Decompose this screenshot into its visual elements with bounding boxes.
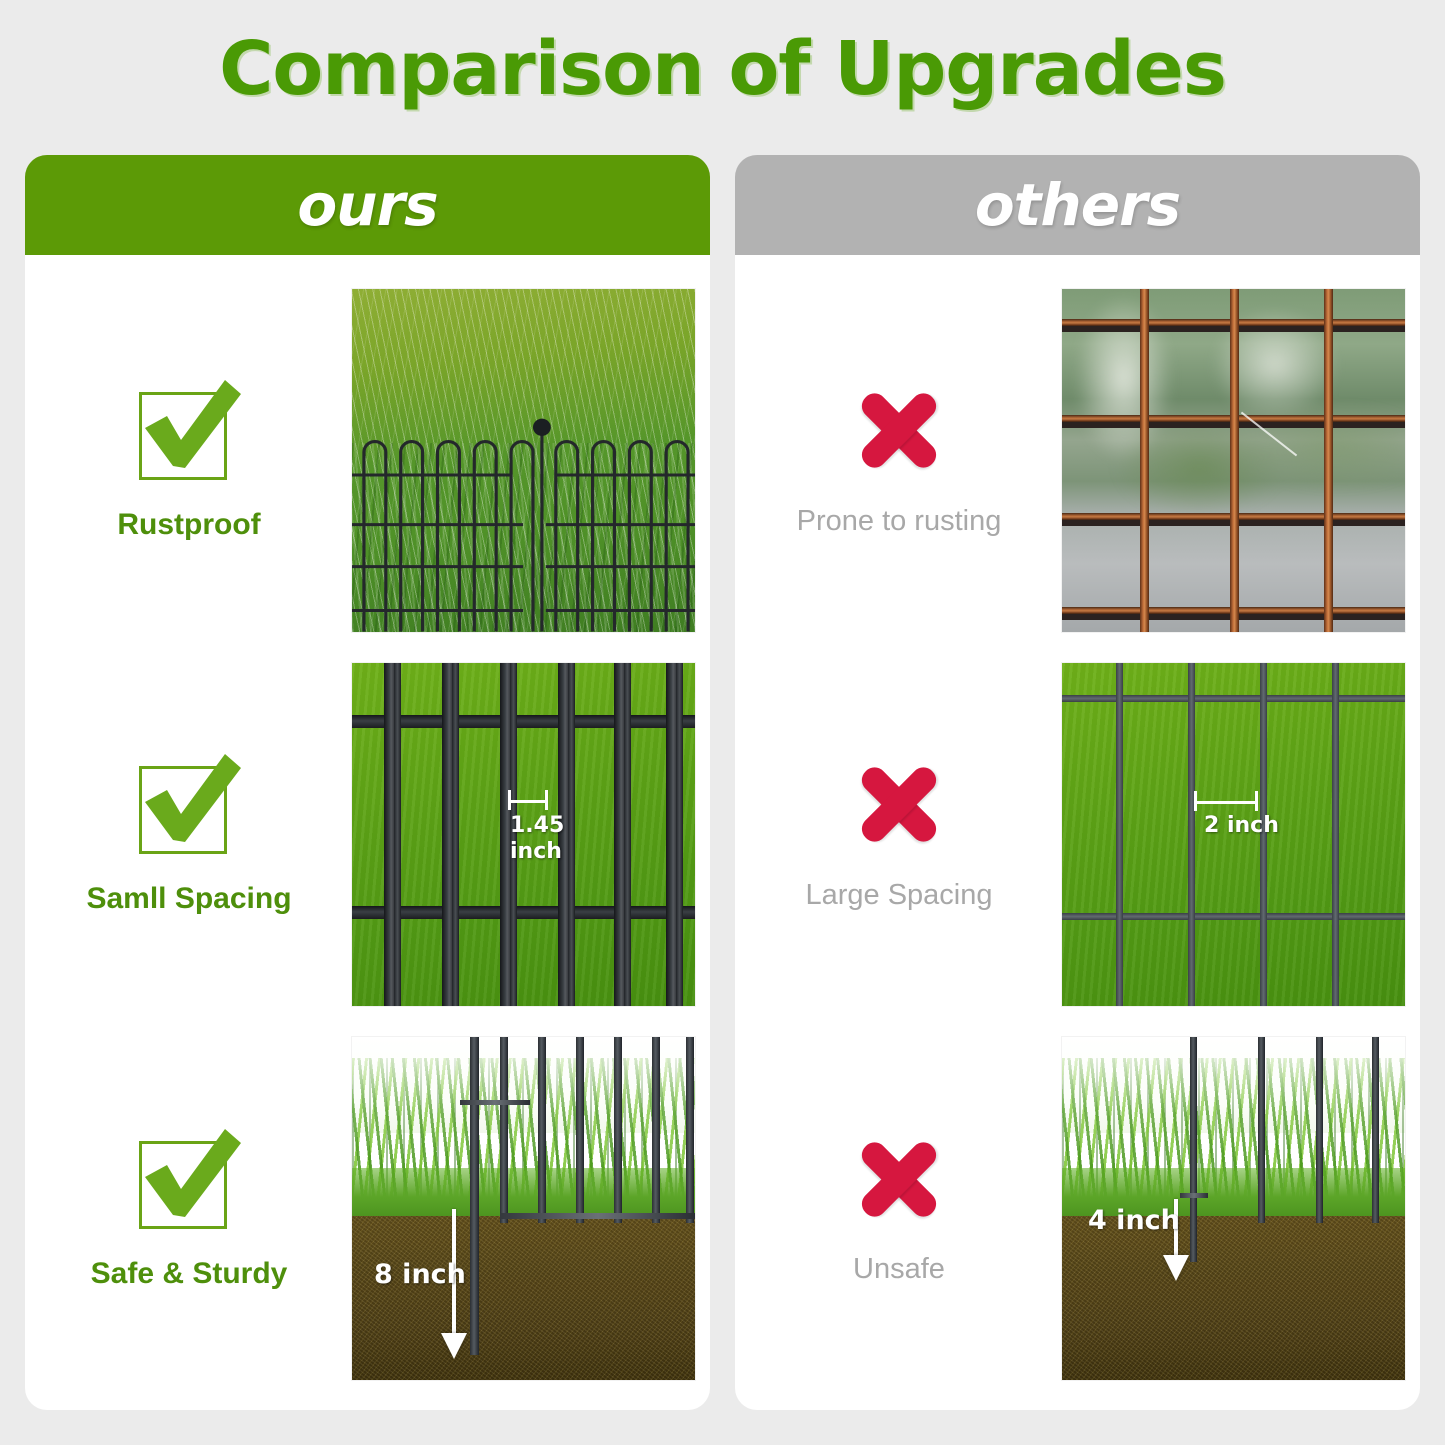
fence-bar — [676, 662, 683, 1007]
fence-crossbar — [1061, 695, 1406, 702]
check-icon — [133, 378, 245, 482]
feature-rustproof: Rustproof — [39, 378, 339, 542]
fence-post — [576, 1037, 584, 1223]
photo-narrow-spacing: 1.45 inch — [351, 662, 696, 1007]
soil-layer — [1062, 1216, 1405, 1381]
check-icon — [133, 1127, 245, 1231]
page-title: Comparison of Upgrades — [0, 26, 1445, 112]
mesh-wire-vertical — [1140, 288, 1149, 633]
fence-post — [1258, 1037, 1265, 1223]
photo-stake-depth-others: 4 inch — [1061, 1036, 1406, 1381]
mesh-wire-vertical — [1230, 288, 1239, 633]
fence-post — [614, 1037, 622, 1223]
fence-post — [1372, 1037, 1379, 1223]
photo-wide-spacing: 2 inch — [1061, 662, 1406, 1007]
dimension-rule — [508, 790, 548, 810]
row-large-spacing: Large Spacing 2 inch — [735, 647, 1420, 1021]
grass-base — [352, 1168, 695, 1216]
dimension-label-others: 2 inch — [1204, 813, 1279, 838]
fence-bar — [1116, 662, 1123, 1007]
feature-label-safe-sturdy: Safe & Sturdy — [91, 1257, 288, 1291]
depth-label-ours: 8 inch — [374, 1259, 466, 1290]
feature-safe-sturdy: Safe & Sturdy — [39, 1127, 339, 1291]
feature-label-unsafe: Unsafe — [853, 1253, 945, 1286]
fence-post — [538, 1037, 546, 1223]
fence-bar — [1188, 662, 1195, 1007]
fence-crossbar — [351, 715, 696, 728]
depth-label-others: 4 inch — [1088, 1205, 1180, 1236]
column-ours: ours Rustproof — [25, 155, 710, 1410]
fence-crossbar — [351, 906, 696, 919]
feature-label-small-spacing: Samll Spacing — [86, 882, 291, 916]
fence-post — [652, 1037, 660, 1223]
x-icon — [851, 757, 947, 853]
feature-prone-to-rusting: Prone to rusting — [749, 383, 1049, 538]
fence-post — [500, 1037, 508, 1223]
column-body-others: Prone to rusting — [735, 255, 1420, 1410]
row-prone-to-rusting: Prone to rusting — [735, 273, 1420, 647]
fence-post — [1190, 1037, 1197, 1262]
photo-fence-in-rain — [351, 288, 696, 633]
fence-post — [470, 1037, 479, 1355]
check-icon — [133, 752, 245, 856]
fence-post — [1316, 1037, 1323, 1223]
column-body-ours: Rustproof — [25, 255, 710, 1410]
row-unsafe: Unsafe 4 inch — [735, 1022, 1420, 1396]
fence-bar — [1332, 662, 1339, 1007]
feature-unsafe: Unsafe — [749, 1131, 1049, 1286]
feature-label-prone-to-rusting: Prone to rusting — [797, 505, 1002, 538]
fence-crossbar — [1180, 1193, 1208, 1198]
feature-small-spacing: Samll Spacing — [39, 752, 339, 916]
mesh-wire-vertical — [1324, 288, 1333, 633]
feature-label-rustproof: Rustproof — [117, 508, 260, 542]
comparison-infographic: Comparison of Upgrades ours Rustproof — [0, 0, 1445, 1445]
fence-crossbar — [1061, 913, 1406, 920]
feature-label-large-spacing: Large Spacing — [805, 879, 992, 912]
dimension-rule — [1194, 791, 1258, 811]
check-mark-icon — [133, 1127, 245, 1231]
loop-top-fence-illustration — [352, 412, 695, 632]
fence-bar — [452, 662, 459, 1007]
photo-rusty-mesh — [1061, 288, 1406, 633]
check-mark-icon — [133, 378, 245, 482]
column-header-others-label: others — [975, 171, 1180, 239]
fence-post — [686, 1037, 694, 1223]
fence-bar — [568, 662, 575, 1007]
column-others: others Prone to rusting — [735, 155, 1420, 1410]
x-icon — [851, 1131, 947, 1227]
column-header-others: others — [735, 155, 1420, 255]
fence-bottom-rail — [500, 1213, 696, 1219]
dimension-label-value: 1.45 — [510, 813, 564, 838]
fence-bar — [394, 662, 401, 1007]
row-rustproof: Rustproof — [25, 273, 710, 647]
fence-crossbar — [460, 1100, 530, 1105]
column-header-ours: ours — [25, 155, 710, 255]
dimension-label-unit: inch — [510, 839, 562, 864]
row-small-spacing: Samll Spacing — [25, 647, 710, 1021]
row-safe-sturdy: Safe & Sturdy — [25, 1022, 710, 1396]
soil-layer — [352, 1216, 695, 1381]
photo-stake-depth-ours: 8 inch — [351, 1036, 696, 1381]
check-mark-icon — [133, 752, 245, 856]
column-header-ours-label: ours — [297, 171, 437, 239]
fence-bar — [624, 662, 631, 1007]
feature-large-spacing: Large Spacing — [749, 757, 1049, 912]
x-icon — [851, 383, 947, 479]
